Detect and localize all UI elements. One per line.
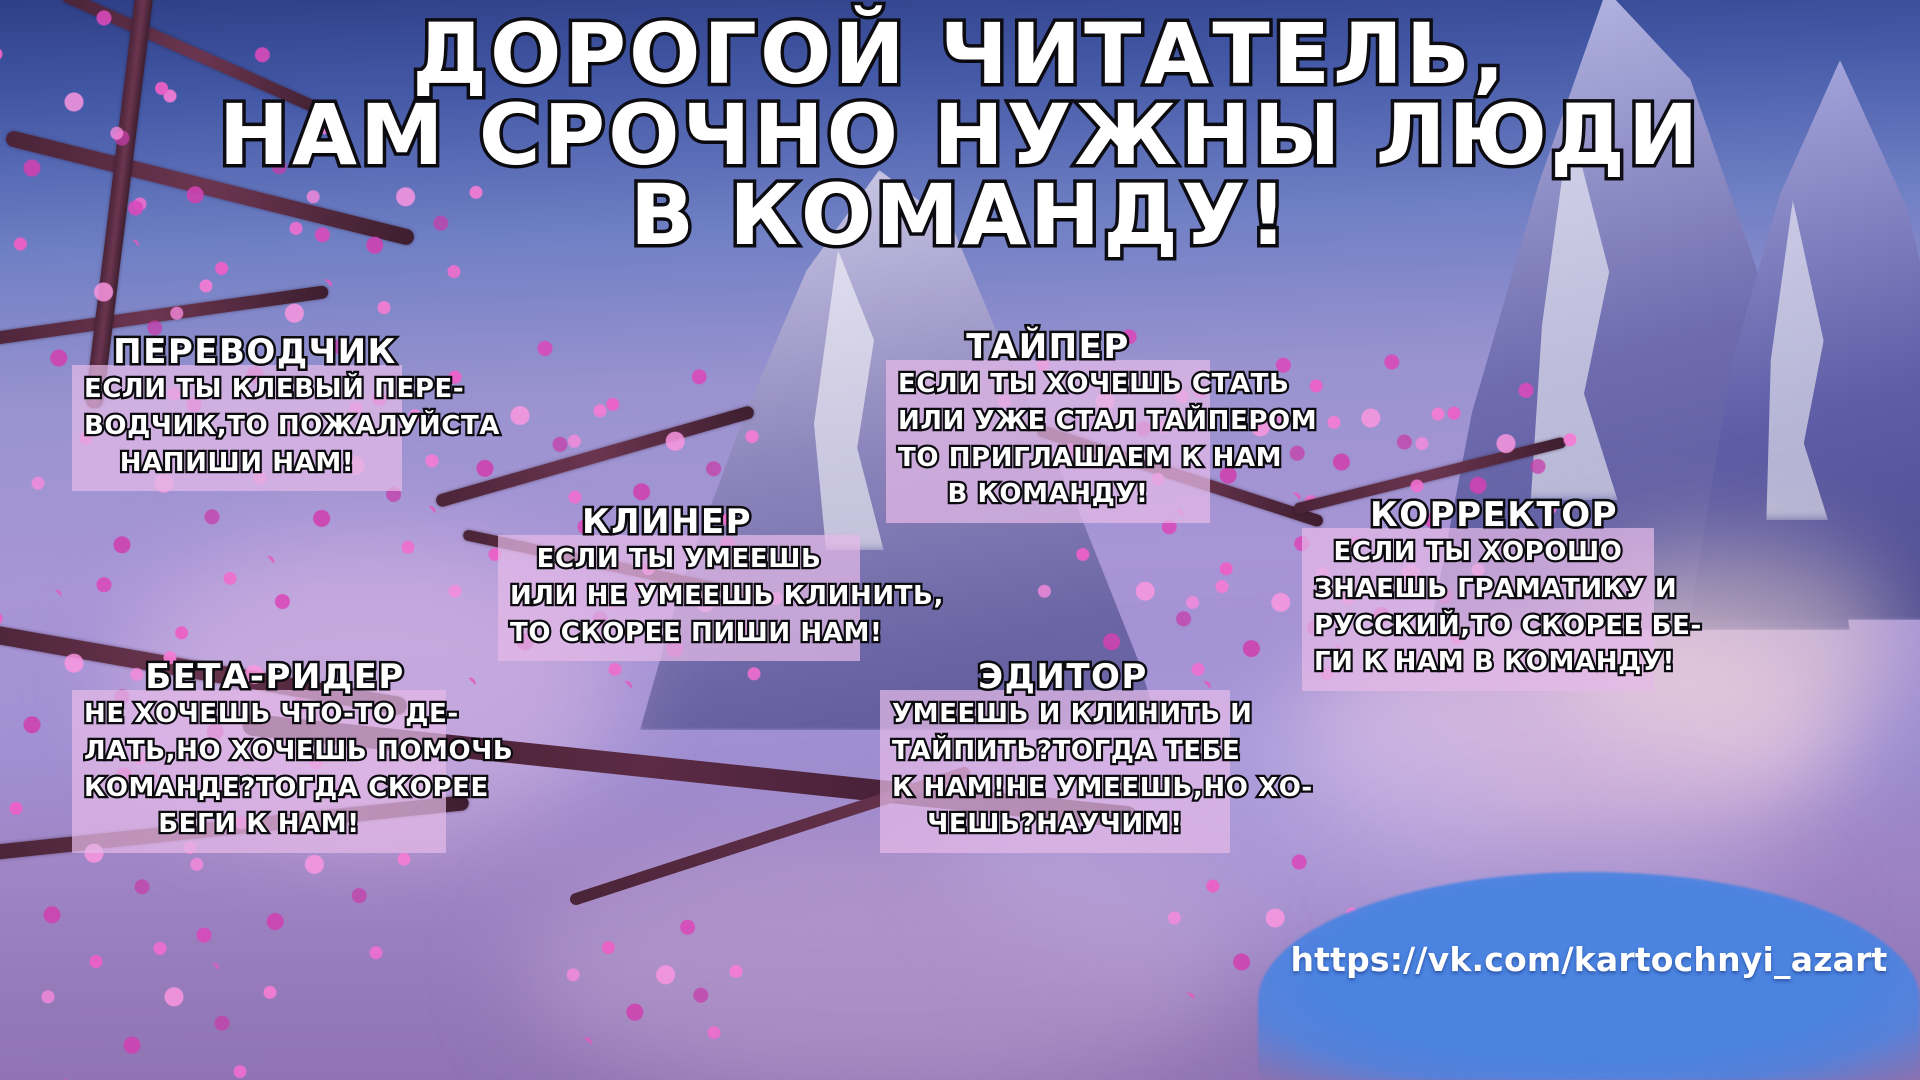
role-block-beta-reader: БЕТА-РИДЕР НЕ ХОЧЕШЬ ЧТО-ТО ДЕ- ЛАТЬ,НО … bbox=[72, 660, 446, 853]
role-block-typer: ТАЙПЕР ЕСЛИ ТЫ ХОЧЕШЬ СТАТЬ ИЛИ УЖЕ СТАЛ… bbox=[886, 330, 1210, 523]
role-body-translator: ЕСЛИ ТЫ КЛЕВЫЙ ПЕРЕ- ВОДЧИК,ТО ПОЖАЛУЙСТ… bbox=[72, 365, 402, 492]
role-body-beta-reader: НЕ ХОЧЕШЬ ЧТО-ТО ДЕ- ЛАТЬ,НО ХОЧЕШЬ ПОМО… bbox=[72, 690, 446, 854]
role-text-line: ВОДЧИК,ТО ПОЖАЛУЙСТА bbox=[84, 408, 390, 445]
role-text-line: ЕСЛИ ТЫ ХОРОШО bbox=[1314, 534, 1642, 571]
role-text-line: ЕСЛИ ТЫ УМЕЕШЬ bbox=[510, 541, 848, 578]
vk-community-link[interactable]: https://vk.com/kartochnyi_azart bbox=[1258, 940, 1920, 979]
role-text-line: НЕ ХОЧЕШЬ ЧТО-ТО ДЕ- bbox=[84, 696, 434, 733]
role-heading-translator: ПЕРЕВОДЧИК bbox=[90, 335, 420, 371]
role-text-line: В КОМАНДУ! bbox=[898, 476, 1198, 513]
role-block-translator: ПЕРЕВОДЧИК ЕСЛИ ТЫ КЛЕВЫЙ ПЕРЕ- ВОДЧИК,Т… bbox=[72, 335, 402, 491]
role-text-line: ЕСЛИ ТЫ КЛЕВЫЙ ПЕРЕ- bbox=[84, 371, 390, 408]
role-heading-corrector: КОРРЕКТОР bbox=[1318, 498, 1670, 534]
role-text-line: УМЕЕШЬ И КЛИНИТЬ И bbox=[892, 696, 1218, 733]
role-heading-typer: ТАЙПЕР bbox=[886, 330, 1210, 366]
role-text-line: ЧЕШЬ?НАУЧИМ! bbox=[892, 806, 1218, 843]
role-text-line: ГИ К НАМ В КОМАНДУ! bbox=[1314, 644, 1642, 681]
role-heading-cleaner: КЛИНЕР bbox=[486, 505, 848, 541]
role-text-line: ТО СКОРЕЕ ПИШИ НАМ! bbox=[510, 615, 848, 652]
role-text-line: ТАЙПИТЬ?ТОГДА ТЕБЕ bbox=[892, 733, 1218, 770]
role-text-line: КОМАНДЕ?ТОГДА СКОРЕЕ bbox=[84, 770, 434, 807]
role-body-editor: УМЕЕШЬ И КЛИНИТЬ И ТАЙПИТЬ?ТОГДА ТЕБЕ К … bbox=[880, 690, 1230, 854]
role-block-cleaner: КЛИНЕР ЕСЛИ ТЫ УМЕЕШЬ ИЛИ НЕ УМЕЕШЬ КЛИН… bbox=[498, 505, 860, 661]
role-text-line: ЗНАЕШЬ ГРАМАТИКУ И bbox=[1314, 571, 1642, 608]
role-text-line: ЛАТЬ,НО ХОЧЕШЬ ПОМОЧЬ bbox=[84, 733, 434, 770]
role-block-corrector: КОРРЕКТОР ЕСЛИ ТЫ ХОРОШО ЗНАЕШЬ ГРАМАТИК… bbox=[1302, 498, 1654, 691]
role-block-editor: ЭДИТОР УМЕЕШЬ И КЛИНИТЬ И ТАЙПИТЬ?ТОГДА … bbox=[880, 660, 1230, 853]
role-body-corrector: ЕСЛИ ТЫ ХОРОШО ЗНАЕШЬ ГРАМАТИКУ И РУССКИ… bbox=[1302, 528, 1654, 692]
banner-image: ДОРОГОЙ ЧИТАТЕЛЬ, НАМ СРОЧНО НУЖНЫ ЛЮДИ … bbox=[0, 0, 1920, 1080]
foreground-blossoms bbox=[560, 900, 780, 1070]
role-text-line: ИЛИ УЖЕ СТАЛ ТАЙПЕРОМ bbox=[898, 403, 1198, 440]
role-heading-beta-reader: БЕТА-РИДЕР bbox=[88, 660, 462, 696]
role-text-line: ТО ПРИГЛАШАЕМ К НАМ bbox=[898, 440, 1198, 477]
role-text-line: РУССКИЙ,ТО СКОРЕЕ БЕ- bbox=[1314, 608, 1642, 645]
role-body-typer: ЕСЛИ ТЫ ХОЧЕШЬ СТАТЬ ИЛИ УЖЕ СТАЛ ТАЙПЕР… bbox=[886, 360, 1210, 524]
role-text-line: ЕСЛИ ТЫ ХОЧЕШЬ СТАТЬ bbox=[898, 366, 1198, 403]
role-text-line: ИЛИ НЕ УМЕЕШЬ КЛИНИТЬ, bbox=[510, 578, 848, 615]
role-heading-editor: ЭДИТОР bbox=[888, 660, 1238, 696]
role-body-cleaner: ЕСЛИ ТЫ УМЕЕШЬ ИЛИ НЕ УМЕЕШЬ КЛИНИТЬ, ТО… bbox=[498, 535, 860, 662]
role-text-line: К НАМ!НЕ УМЕЕШЬ,НО ХО- bbox=[892, 770, 1218, 807]
role-text-line: БЕГИ К НАМ! bbox=[84, 806, 434, 843]
role-text-line: НАПИШИ НАМ! bbox=[84, 445, 390, 482]
